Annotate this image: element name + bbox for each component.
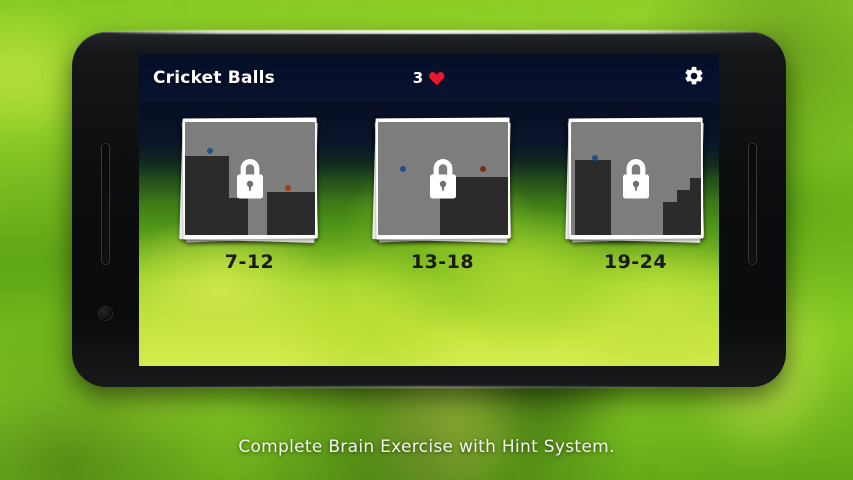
phone-top-edge-highlight [102,30,756,34]
card-preview [571,122,701,235]
phone-device-frame: Cricket Balls 3 [72,32,786,387]
settings-button[interactable] [683,65,705,91]
preview-block [229,198,248,235]
front-camera-icon [99,307,112,320]
gear-icon [683,65,705,91]
preview-block [690,178,701,235]
promo-caption: Complete Brain Exercise with Hint System… [0,437,853,457]
preview-block [677,190,690,235]
preview-block [267,192,315,235]
level-card-label: 13-18 [411,251,474,273]
phone-screen: Cricket Balls 3 [139,54,719,366]
lives-count: 3 [413,69,423,87]
level-card-list: 7-12 [139,118,719,318]
card-preview [185,122,315,235]
padlock-icon [618,157,654,201]
page-title: Cricket Balls [153,68,275,88]
app-bar: Cricket Balls 3 [139,54,719,102]
orange-dot [480,166,486,172]
card-paper-stack [180,118,320,242]
level-card[interactable]: 19-24 [539,118,719,273]
card-paper-stack [373,118,513,242]
preview-block [185,156,229,235]
level-card[interactable]: 7-12 [153,118,346,273]
padlock-icon [232,157,268,201]
heart-icon [429,71,445,86]
preview-block [663,202,677,235]
speaker-grille-icon [102,144,109,264]
blue-dot [207,148,213,154]
level-card-label: 7-12 [225,251,275,273]
orange-dot [285,185,291,191]
padlock-icon [425,157,461,201]
speaker-grille-icon [749,144,756,264]
lives-indicator: 3 [413,69,445,87]
level-card-label: 19-24 [604,251,667,273]
phone-bottom-edge-highlight [132,386,726,388]
blue-dot [400,166,406,172]
level-card[interactable]: 13-18 [346,118,539,273]
blue-dot [592,155,598,161]
card-preview [378,122,508,235]
preview-block [575,160,611,235]
card-paper-stack [566,118,706,242]
